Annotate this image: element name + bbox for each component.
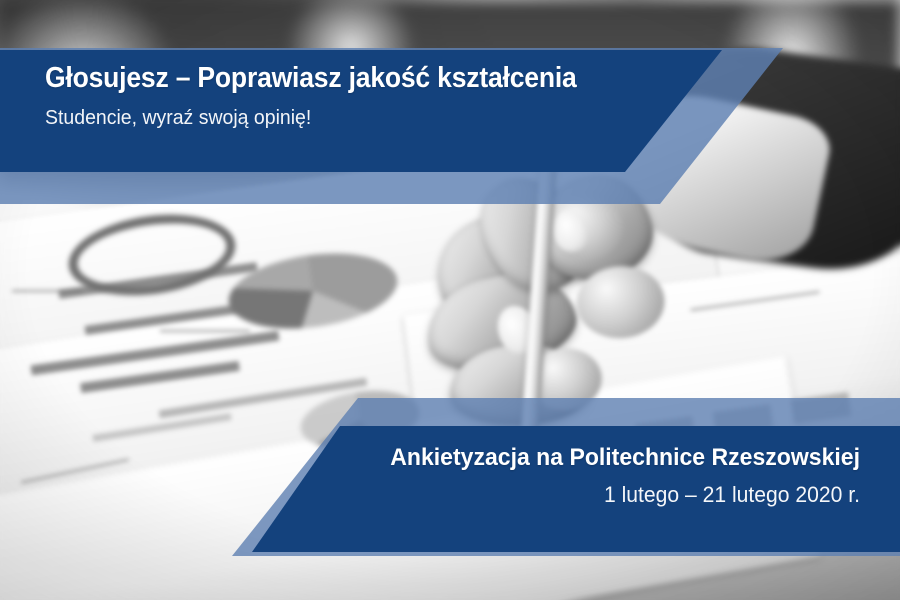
survey-promo-poster: Głosujesz – Poprawiasz jakość kształceni… [0, 0, 900, 600]
poster-headline: Głosujesz – Poprawiasz jakość kształceni… [45, 62, 603, 95]
printed-text-line [12, 290, 82, 292]
poster-subheadline: Studencie, wyraź swoją opinię! [45, 106, 615, 131]
printed-text-line [160, 330, 250, 332]
bottom-banner-text: Ankietyzacja na Politechnice Rzeszowskie… [220, 443, 860, 509]
event-title: Ankietyzacja na Politechnice Rzeszowskie… [258, 443, 860, 472]
top-banner-text: Głosujesz – Poprawiasz jakość kształceni… [45, 62, 645, 130]
event-dates: 1 lutego – 21 lutego 2020 r. [246, 482, 860, 508]
